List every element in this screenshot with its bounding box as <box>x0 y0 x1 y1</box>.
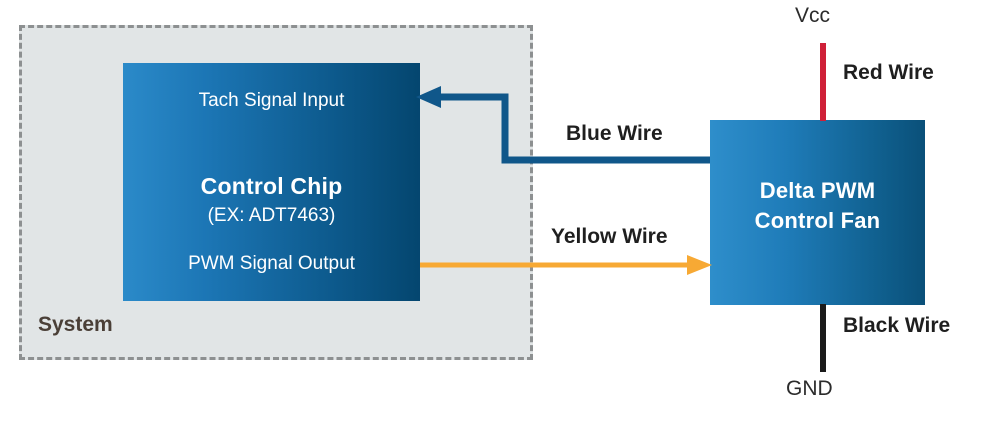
fan-title-line-1: Delta PWM <box>710 178 925 204</box>
pwm-signal-output-label: PWM Signal Output <box>123 253 420 275</box>
diagram-canvas: System Tach Signal Input Control Chip (E… <box>0 0 1000 421</box>
yellow-wire-arrowhead <box>687 255 712 275</box>
black-wire-label: Black Wire <box>843 314 950 338</box>
control-chip-block: Tach Signal Input Control Chip (EX: ADT7… <box>123 63 420 301</box>
tach-signal-input-label: Tach Signal Input <box>123 90 420 112</box>
gnd-label: GND <box>786 377 833 401</box>
vcc-label: Vcc <box>795 4 830 28</box>
system-label: System <box>38 313 113 337</box>
fan-title-line-2: Control Fan <box>710 208 925 234</box>
control-chip-title: Control Chip <box>123 173 420 200</box>
red-wire-label: Red Wire <box>843 61 934 85</box>
blue-wire-label: Blue Wire <box>566 122 663 146</box>
delta-pwm-control-fan-block: Delta PWM Control Fan <box>710 120 925 305</box>
yellow-wire-label: Yellow Wire <box>551 225 668 249</box>
control-chip-subtitle: (EX: ADT7463) <box>123 205 420 227</box>
